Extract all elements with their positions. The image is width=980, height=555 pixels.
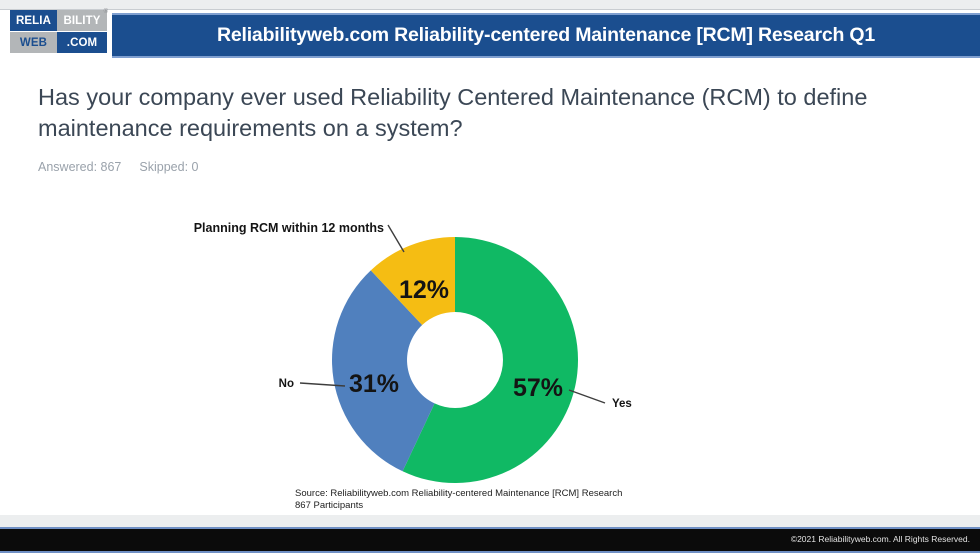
response-stats: Answered: 867Skipped: 0 xyxy=(38,160,198,174)
logo-text-com: .COM xyxy=(57,32,107,53)
copyright-notice: ©2021 Reliabilityweb.com. All Rights Res… xyxy=(791,534,970,544)
survey-question: Has your company ever used Reliability C… xyxy=(38,82,918,144)
donut-value-no: 31% xyxy=(349,370,399,398)
chart-source-line2: 867 Participants xyxy=(295,500,363,511)
page-title: Reliabilityweb.com Reliability-centered … xyxy=(217,24,875,47)
logo-text-bility: BILITY xyxy=(57,10,107,31)
donut-slices xyxy=(332,237,578,483)
registered-trademark-icon: ® xyxy=(104,9,108,15)
reliabilityweb-logo[interactable]: RELIA BILITY WEB .COM ® xyxy=(10,10,107,54)
donut-label-yes: Yes xyxy=(612,398,632,410)
donut-label-no: No xyxy=(279,378,294,390)
answered-count: Answered: 867 xyxy=(38,160,121,174)
logo-row-top: RELIA BILITY xyxy=(10,10,107,31)
donut-chart-svg: 57% 31% 12% Yes No Planning RCM within 1… xyxy=(0,200,980,520)
logo-text-web: WEB xyxy=(10,32,57,53)
donut-chart: 57% 31% 12% Yes No Planning RCM within 1… xyxy=(0,200,980,520)
leader-line-yes xyxy=(569,390,605,403)
leader-line-planning xyxy=(388,225,404,252)
logo-row-bottom: WEB .COM xyxy=(10,32,107,53)
logo-text-relia: RELIA xyxy=(10,10,57,31)
header-bar: Reliabilityweb.com Reliability-centered … xyxy=(112,13,980,58)
header: Reliabilityweb.com Reliability-centered … xyxy=(0,10,980,61)
donut-value-yes: 57% xyxy=(513,374,563,402)
donut-label-planning: Planning RCM within 12 months xyxy=(194,221,384,235)
slide: Reliabilityweb.com Reliability-centered … xyxy=(0,0,980,555)
chart-source-line1: Source: Reliabilityweb.com Reliability-c… xyxy=(295,488,622,499)
skipped-count: Skipped: 0 xyxy=(139,160,198,174)
donut-value-planning: 12% xyxy=(399,276,449,304)
